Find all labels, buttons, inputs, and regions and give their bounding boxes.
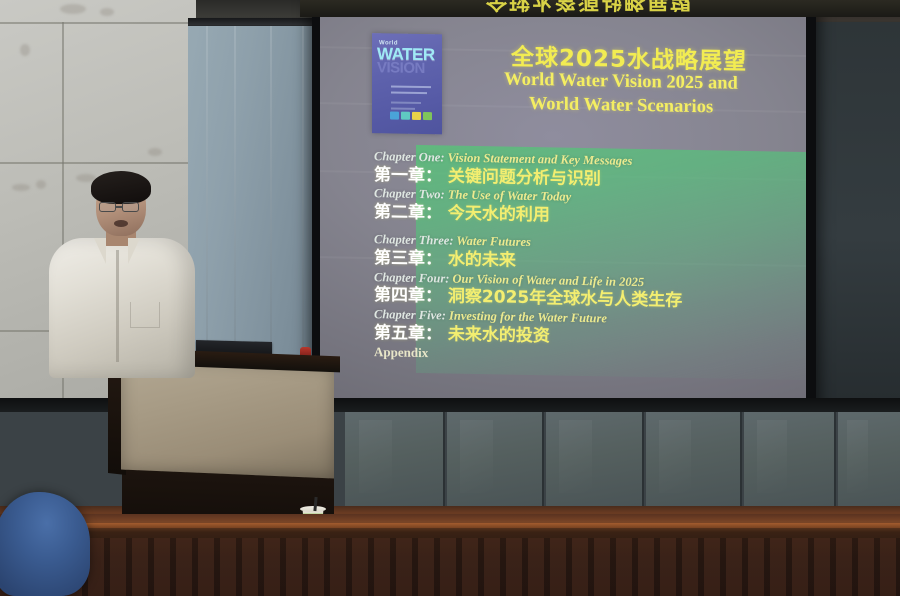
slide-content: World WATER VISION 全球2025水战略展望 World Wat… bbox=[320, 6, 806, 409]
chapter-chinese-number: 第五章： bbox=[374, 323, 442, 344]
wall-smudge bbox=[20, 44, 30, 56]
book-cover-image: World WATER VISION bbox=[372, 33, 442, 134]
chapter-chinese-title: 关键问题分析与识别 bbox=[442, 166, 601, 189]
wall-smudge bbox=[60, 4, 86, 14]
audience-desk-row bbox=[0, 514, 900, 596]
chapter-english-title: The Use of Water Today bbox=[448, 188, 571, 204]
book-color-swatch bbox=[390, 111, 399, 119]
presenter-hair bbox=[91, 171, 151, 204]
shirt-collar-right bbox=[128, 238, 140, 264]
chapter-chinese-number: 第四章： bbox=[374, 285, 442, 306]
chapter-chinese-title: 洞察2025年全球水与人类生存 bbox=[442, 287, 682, 311]
seat-backs bbox=[0, 538, 900, 596]
wall-panel bbox=[447, 412, 544, 506]
wall-panel bbox=[646, 412, 742, 506]
dark-wall-right-of-screen bbox=[806, 22, 900, 410]
chapter-english-title: Investing for the Water Future bbox=[449, 308, 607, 325]
wall-smudge bbox=[148, 148, 162, 156]
chapter-chinese-number: 第三章： bbox=[374, 248, 442, 269]
projection-screen-frame: World WATER VISION 全球2025水战略展望 World Wat… bbox=[312, 0, 816, 423]
tile-seam-horizontal bbox=[0, 162, 196, 164]
chapter-english-lead: Chapter One: bbox=[374, 149, 448, 164]
book-color-swatch bbox=[412, 112, 421, 120]
blue-chair bbox=[0, 492, 90, 596]
presenter-mouth bbox=[114, 220, 128, 227]
wall-panel bbox=[744, 412, 836, 506]
shirt-placket bbox=[116, 250, 119, 362]
overhead-banner-text: 全球水资源战略展望 bbox=[486, 0, 693, 17]
chapter-chinese-number: 第一章： bbox=[374, 165, 442, 186]
book-text-line bbox=[391, 101, 421, 103]
tile-seam-horizontal bbox=[0, 22, 196, 24]
presenter-person bbox=[44, 176, 194, 376]
chapter-chinese-number: 第二章： bbox=[374, 202, 442, 223]
presentation-photo-scene: World WATER VISION 全球2025水战略展望 World Wat… bbox=[0, 0, 900, 596]
desk-edge bbox=[0, 523, 900, 528]
chapter-english-lead: Chapter Three: bbox=[374, 233, 456, 249]
book-text-line bbox=[391, 107, 415, 109]
chapter-chinese-title: 水的未来 bbox=[442, 250, 516, 271]
book-text-line bbox=[391, 85, 431, 88]
book-color-swatch bbox=[401, 112, 410, 120]
slide-title-english-2: World Water Scenarios bbox=[448, 92, 794, 119]
chapter-list: Chapter One: Vision Statement and Key Me… bbox=[368, 135, 788, 383]
book-color-swatch bbox=[423, 112, 432, 120]
shirt-collar-left bbox=[94, 238, 106, 264]
eyeglasses-left-lens bbox=[99, 202, 116, 212]
eyeglasses-bridge bbox=[116, 206, 122, 208]
eyeglasses-right-lens bbox=[122, 202, 139, 212]
chapter-english-lead: Chapter Two: bbox=[374, 186, 448, 201]
chapter-english-lead: Chapter Four: bbox=[374, 270, 453, 285]
podium-lectern bbox=[104, 352, 342, 527]
chapter-english-lead: Chapter Five: bbox=[374, 307, 449, 322]
wall-smudge bbox=[100, 8, 114, 16]
book-word-sub: VISION bbox=[377, 61, 425, 76]
wall-panel bbox=[546, 412, 644, 506]
presenter-shirt bbox=[49, 238, 195, 378]
wall-smudge bbox=[12, 184, 30, 191]
shirt-pocket bbox=[130, 302, 160, 328]
book-text-line bbox=[391, 91, 427, 94]
chapter-chinese-title: 未来水的投资 bbox=[442, 324, 550, 346]
projection-screen-surface: World WATER VISION 全球2025水战略展望 World Wat… bbox=[320, 6, 806, 409]
overhead-banner: 全球水资源战略展望 bbox=[300, 0, 900, 17]
wall-panel bbox=[345, 412, 445, 506]
wall-panel bbox=[838, 412, 900, 506]
chapter-rows: Chapter One: Vision Statement and Key Me… bbox=[368, 135, 788, 352]
chapter-english-title: Water Futures bbox=[456, 234, 530, 249]
chapter-chinese-title: 今天水的利用 bbox=[442, 203, 550, 225]
